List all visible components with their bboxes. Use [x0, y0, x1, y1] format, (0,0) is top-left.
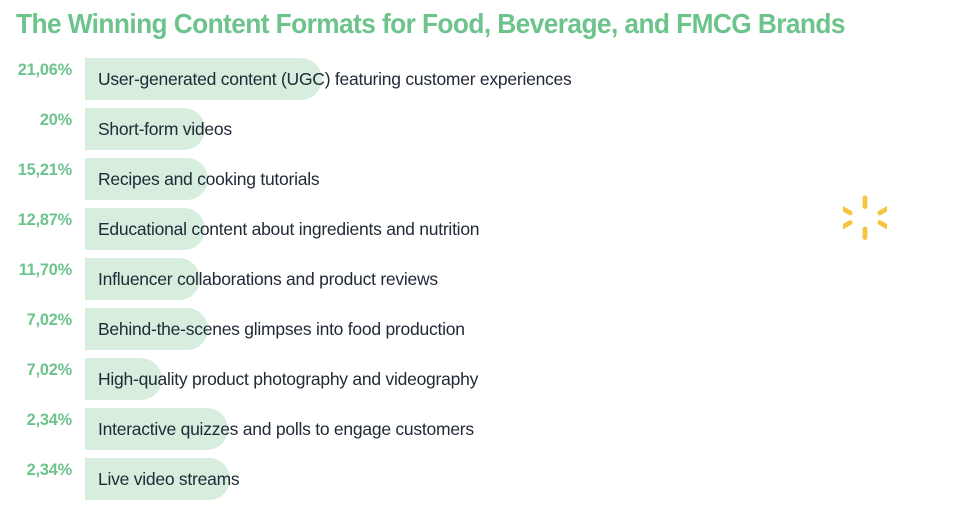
bar-row: 7,02% High-quality product photography a… [0, 358, 960, 408]
bar-row: 15,21% Recipes and cooking tutorials [0, 158, 960, 208]
bar-category-label: Recipes and cooking tutorials [98, 158, 319, 200]
bar-category-label: Influencer collaborations and product re… [98, 258, 438, 300]
bar-row: 20% Short-form videos [0, 108, 960, 158]
chart-title: The Winning Content Formats for Food, Be… [16, 4, 914, 44]
bar-row: 11,70% Influencer collaborations and pro… [0, 258, 960, 308]
bar-value-label: 2,34% [3, 460, 72, 480]
bar-value-label: 7,02% [3, 310, 72, 330]
bar-category-label: Interactive quizzes and polls to engage … [98, 408, 474, 450]
bar-value-label: 2,34% [3, 410, 72, 430]
bar-category-label: Educational content about ingredients an… [98, 208, 479, 250]
bar-category-label: Behind-the-scenes glimpses into food pro… [98, 308, 465, 350]
chart-container: The Winning Content Formats for Food, Be… [0, 0, 960, 520]
bar-value-label: 7,02% [3, 360, 72, 380]
bar-row: 2,34% Interactive quizzes and polls to e… [0, 408, 960, 458]
spark-loader-icon [843, 195, 887, 241]
bar-row: 7,02% Behind-the-scenes glimpses into fo… [0, 308, 960, 358]
bar-category-label: Short-form videos [98, 108, 232, 150]
bar-category-label: User-generated content (UGC) featuring c… [98, 58, 572, 100]
bar-value-label: 12,87% [3, 210, 72, 230]
bar-row: 2,34% Live video streams [0, 458, 960, 508]
bar-chart-rows: 21,06% User-generated content (UGC) feat… [0, 58, 960, 508]
bar-value-label: 15,21% [3, 160, 72, 180]
bar-value-label: 21,06% [3, 60, 72, 80]
bar-category-label: Live video streams [98, 458, 239, 500]
bar-category-label: High-quality product photography and vid… [98, 358, 478, 400]
bar-value-label: 11,70% [3, 260, 72, 280]
bar-value-label: 20% [3, 110, 72, 130]
bar-row: 12,87% Educational content about ingredi… [0, 208, 960, 258]
bar-row: 21,06% User-generated content (UGC) feat… [0, 58, 960, 108]
